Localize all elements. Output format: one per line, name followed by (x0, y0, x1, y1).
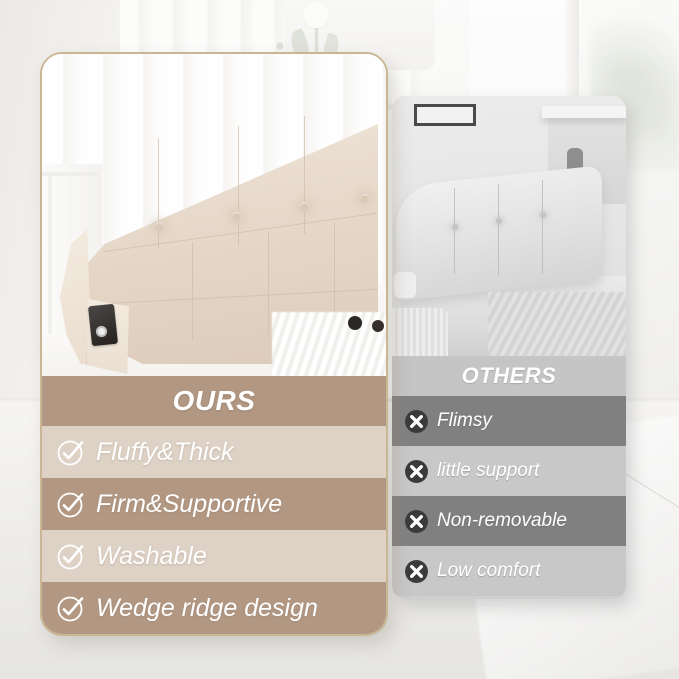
ours-card: OURS Fluffy&Thick (40, 52, 388, 636)
ours-header-label: OURS (173, 385, 256, 417)
ours-feature-row: Fluffy&Thick (42, 426, 386, 478)
ours-photo-tuft-button (232, 212, 241, 221)
ours-photo-tuft-button (300, 202, 309, 211)
others-feature-label: little support (437, 460, 539, 482)
ours-photo-seam (158, 138, 159, 248)
check-circle-icon (56, 489, 86, 519)
others-photo-throw-blanket (488, 292, 626, 356)
ours-photo-tuft-button (155, 222, 164, 231)
x-circle-icon (404, 509, 429, 534)
others-header-label: OTHERS (462, 363, 557, 389)
others-product-photo (392, 96, 626, 356)
check-circle-icon (56, 593, 86, 623)
ours-feature-row: Wedge ridge design (42, 582, 386, 634)
background-flower (303, 2, 329, 28)
ours-photo-headboard-bar (42, 172, 98, 176)
others-photo-lamp (394, 272, 416, 298)
comparison-infographic: OTHERS Flimsy litt (0, 0, 679, 679)
ours-feature-label: Washable (96, 542, 207, 571)
others-photo-shelf (542, 106, 626, 118)
ours-photo-tuft-button (360, 194, 369, 203)
others-photo-seam (498, 184, 499, 276)
ours-header: OURS (42, 376, 386, 426)
others-feature-label: Low comfort (437, 560, 540, 582)
others-photo-wall-art (414, 104, 476, 126)
others-feature-label: Flimsy (437, 410, 492, 432)
others-photo-tuft (496, 218, 502, 224)
others-feature-row: Flimsy (392, 396, 626, 446)
others-header: OTHERS (392, 356, 626, 396)
x-circle-icon (404, 409, 429, 434)
others-photo-tuft (540, 212, 546, 218)
ours-photo-seam (304, 116, 305, 234)
check-circle-icon (56, 437, 86, 467)
ours-photo-seam (268, 232, 269, 336)
ours-photo-headboard-bar (48, 174, 52, 344)
others-feature-label: Non-removable (437, 510, 567, 532)
ours-photo-bed-knob (372, 320, 384, 332)
others-card: OTHERS Flimsy litt (392, 96, 626, 599)
ours-feature-label: Fluffy&Thick (96, 438, 234, 467)
ours-photo-seam (334, 222, 335, 322)
others-feature-row: Non-removable (392, 496, 626, 546)
others-photo-wedge-pillow (396, 165, 602, 301)
others-photo-tuft (452, 224, 458, 230)
ours-product-photo (42, 54, 386, 376)
ours-feature-row: Washable (42, 530, 386, 582)
ours-feature-list: Fluffy&Thick Firm&Supportive (42, 426, 386, 634)
ours-photo-duvet (272, 312, 386, 376)
others-photo-seam (542, 180, 543, 274)
others-photo-seam (454, 188, 455, 274)
ours-photo-bed-knob (348, 316, 362, 330)
x-circle-icon (404, 559, 429, 584)
ours-photo-phone (88, 304, 118, 346)
ours-feature-label: Firm&Supportive (96, 490, 282, 519)
others-feature-row: Low comfort (392, 546, 626, 596)
others-photo-nightstand (392, 308, 448, 356)
ours-photo-seam (192, 242, 193, 340)
others-feature-list: Flimsy little support (392, 396, 626, 596)
others-feature-row: little support (392, 446, 626, 496)
x-circle-icon (404, 459, 429, 484)
ours-feature-row: Firm&Supportive (42, 478, 386, 530)
ours-feature-label: Wedge ridge design (96, 594, 318, 623)
check-circle-icon (56, 541, 86, 571)
ours-photo-seam (238, 126, 239, 246)
